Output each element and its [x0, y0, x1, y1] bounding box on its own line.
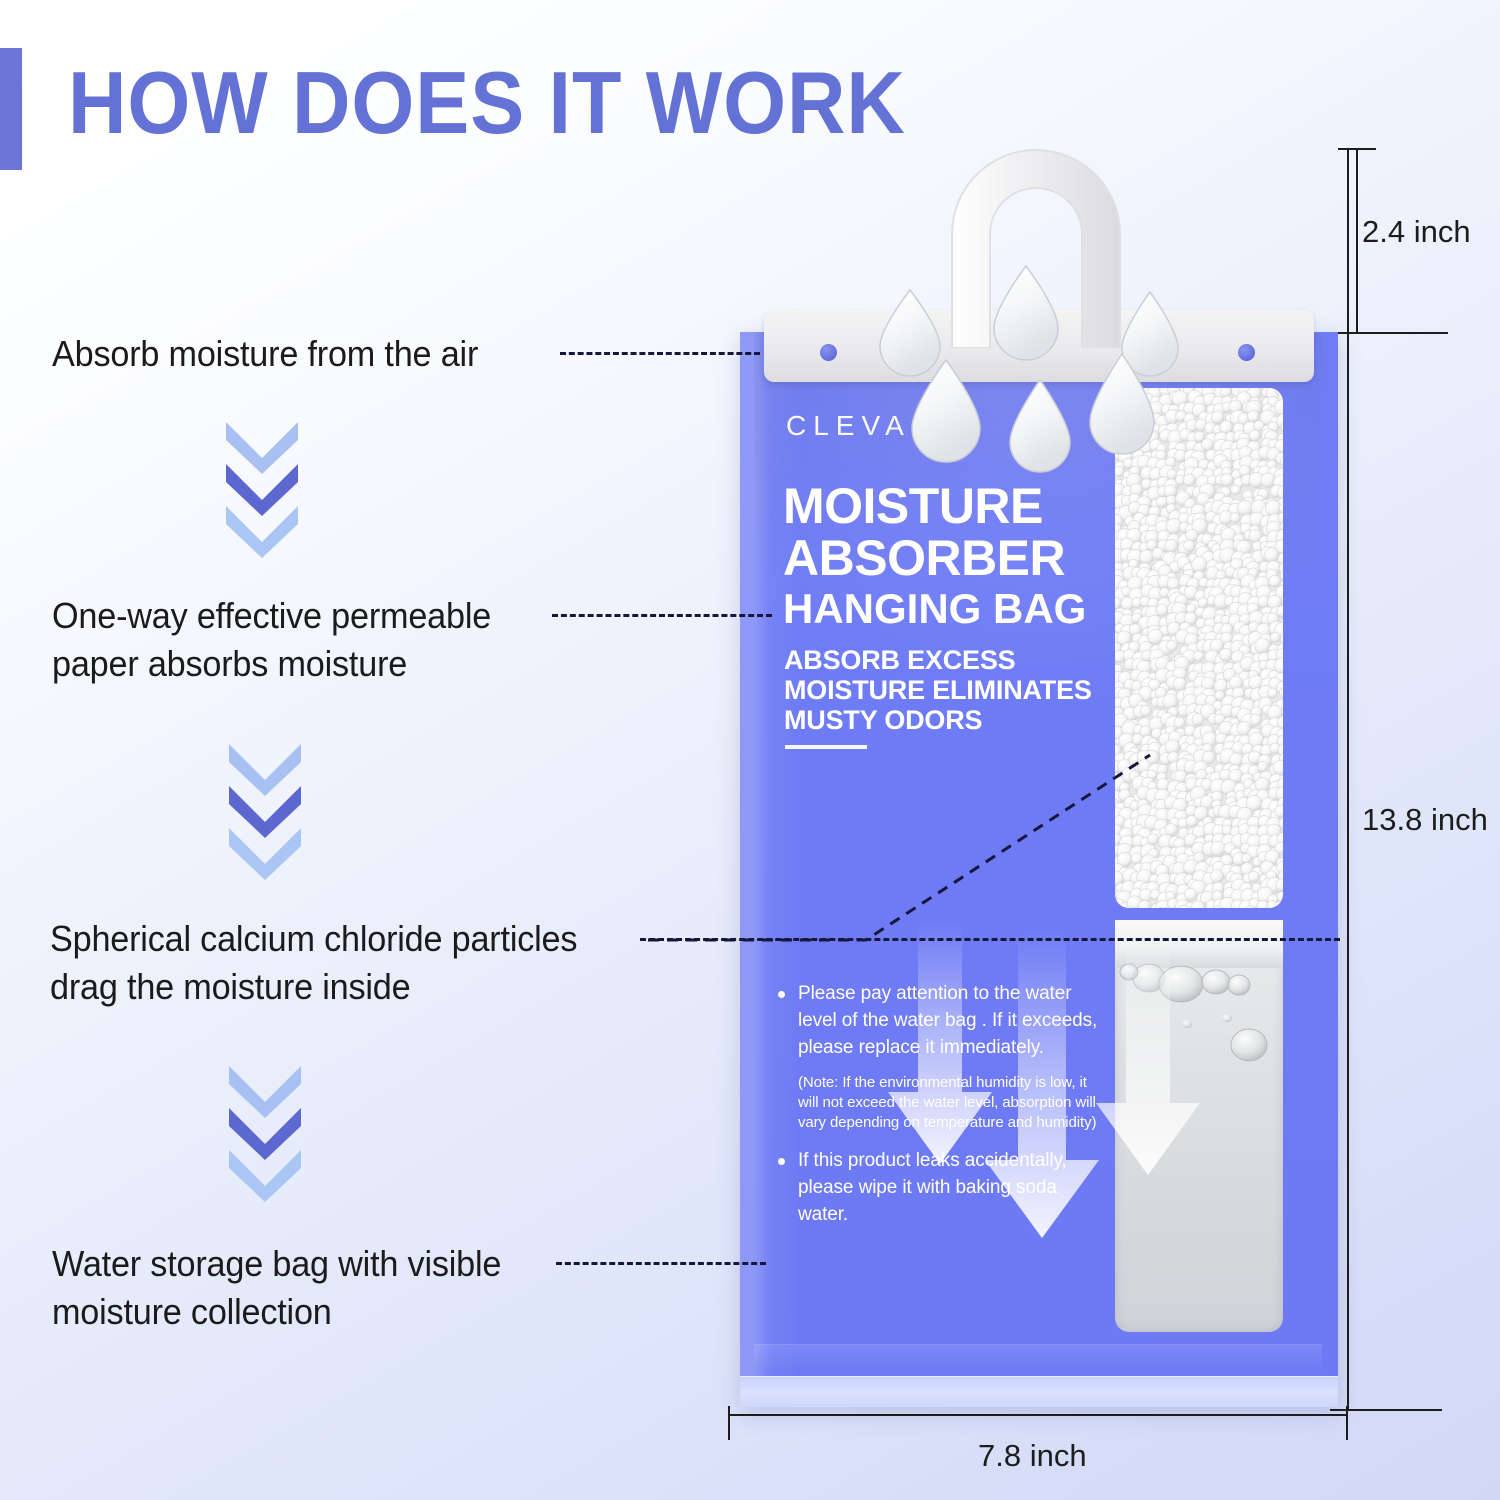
dimension-line-width [728, 1414, 1348, 1416]
dimension-label-top-height: 2.4 inch [1362, 214, 1471, 250]
dimension-tick [728, 1406, 730, 1440]
water-level-dashed-line [640, 938, 1340, 941]
dimension-tick [1338, 148, 1376, 150]
leader-line-calcium-chloride [0, 0, 1500, 1500]
dimension-line-total [1347, 148, 1349, 1410]
dimension-label-total-height: 13.8 inch [1362, 802, 1488, 838]
dimension-label-width: 7.8 inch [978, 1438, 1087, 1474]
dimension-tick [1338, 332, 1448, 334]
infographic-canvas: HOW DOES IT WORK Absorb moisture from th… [0, 0, 1500, 1500]
dimension-line-top [1356, 148, 1358, 334]
dimension-tick [1346, 1406, 1348, 1440]
